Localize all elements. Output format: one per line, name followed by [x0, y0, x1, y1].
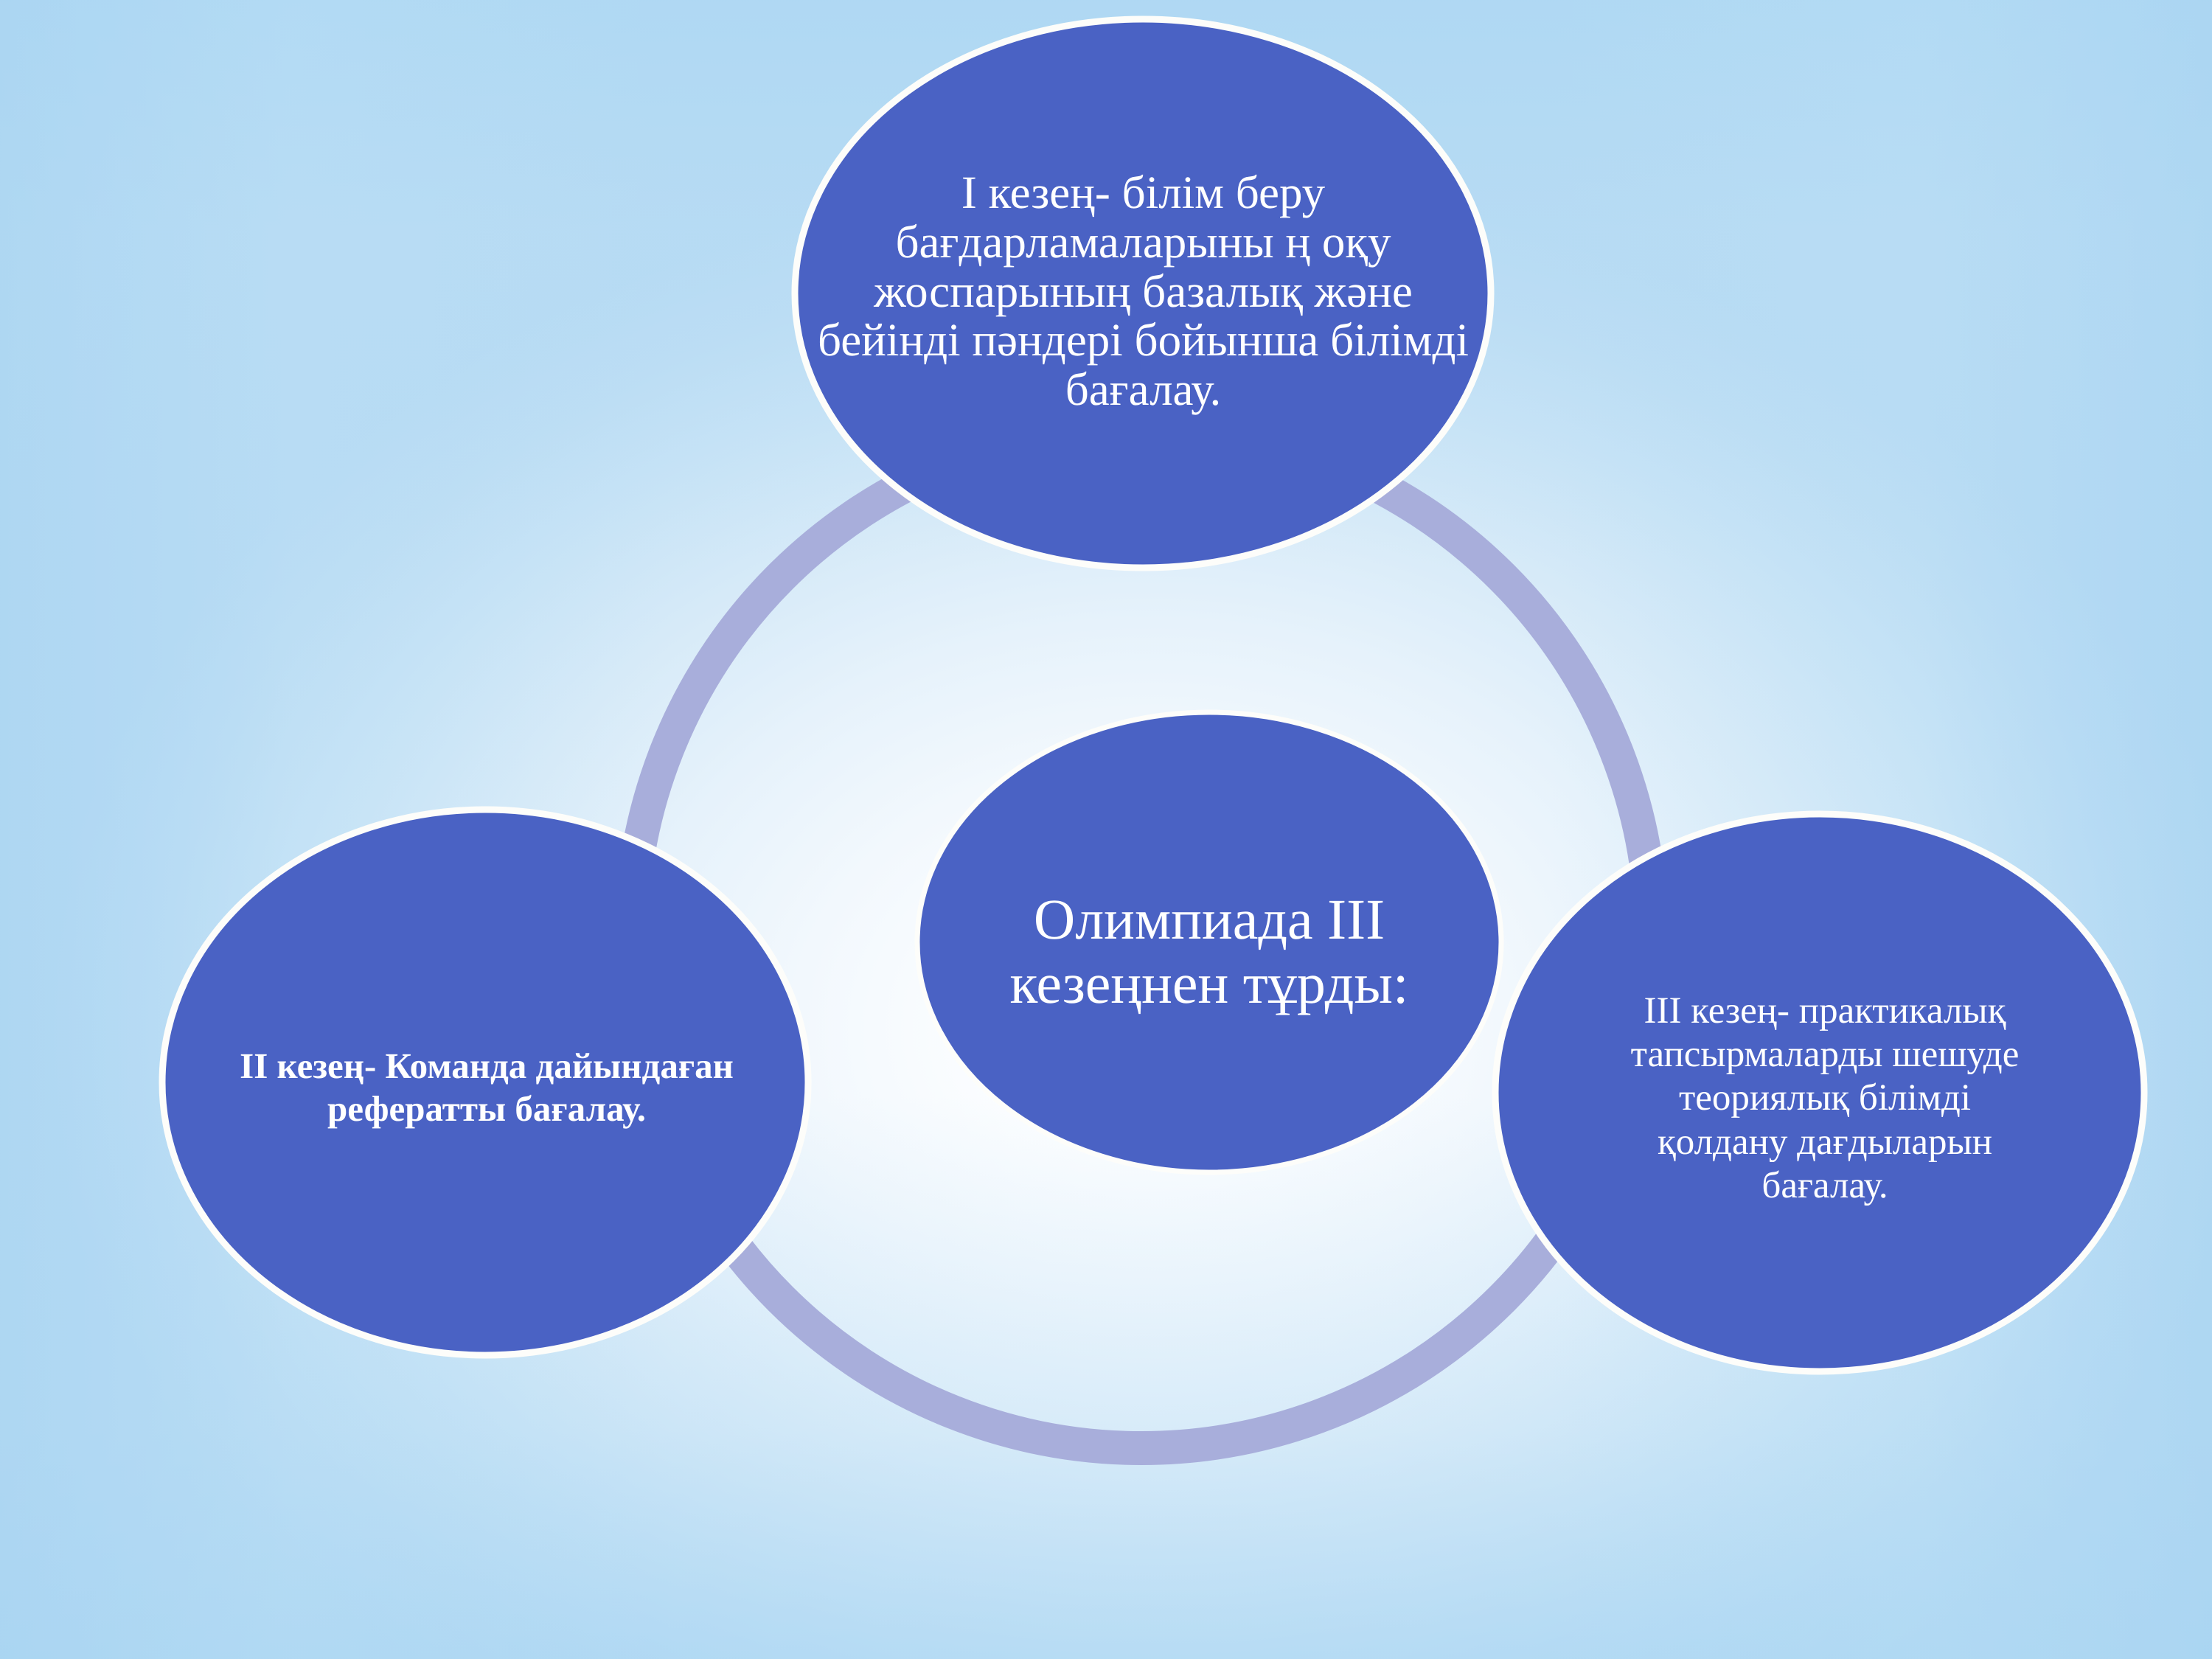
node-center-label: Олимпиада III кезеңнен тұрды: — [981, 782, 1438, 1121]
node-stage-2-label: II кезең- Команда дайындаған рефератты б… — [221, 973, 752, 1202]
node-stage-3-label: III кезең- практикалық тапсырмаларды шеш… — [1611, 874, 2039, 1324]
slide-canvas: I кезең- білім беру бағдарламаларыны ң о… — [0, 0, 2212, 1659]
node-stage-1-label: I кезең- білім беру бағдарламаларыны ң о… — [810, 81, 1477, 501]
